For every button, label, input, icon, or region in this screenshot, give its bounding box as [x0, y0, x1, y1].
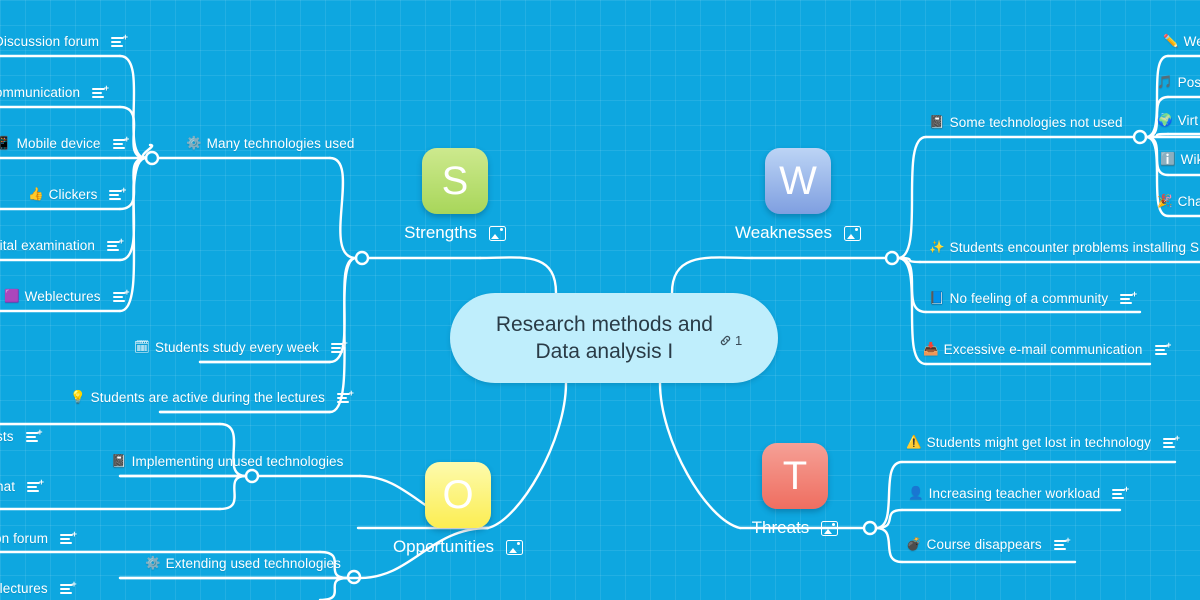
globe-icon: 🌍	[1157, 114, 1173, 127]
swot-caption-opportunities: Opportunities	[374, 537, 542, 557]
swot-letter-s: S	[422, 148, 488, 214]
subtopic-weblectures[interactable]: 🟪 Weblectures +	[4, 289, 128, 304]
image-icon[interactable]	[821, 521, 838, 536]
central-node-line1: Research methods and	[496, 313, 713, 336]
topic-extending-used-technologies[interactable]: ⚙️ Extending used technologies	[145, 556, 341, 571]
subtopic-clickers[interactable]: 👍 Clickers +	[28, 187, 124, 202]
party-popper-icon: 🎉	[1157, 195, 1173, 208]
topic-students-problems-installing-spss[interactable]: ✨ Students encounter problems installing…	[929, 240, 1200, 255]
information-icon: ℹ️	[1160, 153, 1176, 166]
subtopic-pos[interactable]: 🎵 Pos	[1157, 75, 1200, 90]
note-icon[interactable]: +	[331, 342, 346, 354]
central-node-link-badge[interactable]: 1	[719, 333, 742, 348]
topic-many-technologies-used[interactable]: ⚙️ Many technologies used	[186, 136, 354, 151]
swot-caption-weaknesses: Weaknesses	[722, 223, 874, 243]
swot-label-opportunities: Opportunities	[393, 537, 494, 557]
sparkles-icon: ✨	[929, 241, 945, 254]
blue-book-icon: 📘	[929, 292, 945, 305]
swot-letter-o: O	[425, 462, 491, 528]
note-icon[interactable]: +	[1054, 539, 1069, 551]
note-icon[interactable]: +	[1120, 293, 1135, 305]
subtopic-wik[interactable]: ℹ️ Wik	[1160, 152, 1200, 167]
note-icon[interactable]: +	[337, 392, 352, 404]
swot-letter-t: T	[762, 443, 828, 509]
swot-node-opportunities[interactable]: O Opportunities	[374, 462, 542, 557]
note-icon[interactable]: +	[27, 481, 42, 493]
inbox-tray-icon: 📥	[923, 343, 939, 356]
topic-increasing-teacher-workload[interactable]: 👤 Increasing teacher workload +	[908, 486, 1127, 501]
chain-link-icon	[719, 334, 732, 347]
subtopic-hat[interactable]: hat +	[0, 479, 42, 494]
subtopic-mobile-device[interactable]: 📱 Mobile device +	[0, 136, 128, 151]
pencil-icon: ✏️	[1163, 35, 1179, 48]
subtopic-sts[interactable]: sts +	[0, 429, 41, 444]
gear-icon: ⚙️	[145, 557, 161, 570]
image-icon[interactable]	[506, 540, 523, 555]
warning-icon: ⚠️	[906, 436, 922, 449]
central-node-text: Research methods and Data analysis I	[486, 311, 717, 365]
image-icon[interactable]	[489, 226, 506, 241]
swot-label-strengths: Strengths	[404, 223, 477, 243]
gear-icon: ⚙️	[186, 137, 202, 150]
note-icon[interactable]: +	[111, 36, 126, 48]
topic-implementing-unused-technologies[interactable]: 📓 Implementing unused technologies	[111, 454, 344, 469]
swot-node-strengths[interactable]: S Strengths	[388, 148, 522, 243]
notebook-icon: 📓	[929, 116, 945, 129]
lightbulb-icon: 💡	[70, 391, 86, 404]
subtopic-discussion-forum[interactable]: Discussion forum +	[0, 34, 126, 49]
subtopic-on-forum[interactable]: on forum +	[0, 531, 75, 546]
calendar-icon: 🗓	[134, 341, 150, 354]
note-icon[interactable]: +	[1112, 488, 1127, 500]
swot-letter-w: W	[765, 148, 831, 214]
note-icon[interactable]: +	[1163, 437, 1178, 449]
notebook-icon: 📓	[111, 455, 127, 468]
subtopic-digital-examination[interactable]: gital examination +	[0, 238, 122, 253]
swot-caption-strengths: Strengths	[388, 223, 522, 243]
swot-node-weaknesses[interactable]: W Weaknesses	[722, 148, 874, 243]
central-node[interactable]: Research methods and Data analysis I 1	[450, 293, 778, 383]
note-icon[interactable]: +	[1155, 344, 1170, 356]
person-icon: 👤	[908, 487, 924, 500]
thumbs-up-icon: 👍	[28, 188, 44, 201]
topic-students-study-every-week[interactable]: 🗓 Students study every week +	[134, 340, 346, 355]
central-node-link-count: 1	[735, 333, 742, 348]
mobile-icon: 📱	[0, 137, 12, 150]
topic-students-active-during-lectures[interactable]: 💡 Students are active during the lecture…	[70, 390, 352, 405]
note-icon[interactable]: +	[60, 583, 75, 595]
swot-label-weaknesses: Weaknesses	[735, 223, 832, 243]
subtopic-cha[interactable]: 🎉 Cha	[1157, 194, 1200, 209]
swot-label-threats: Threats	[752, 518, 810, 538]
swot-caption-threats: Threats	[730, 518, 860, 538]
image-icon[interactable]	[844, 226, 861, 241]
topic-no-feeling-of-community[interactable]: 📘 No feeling of a community +	[929, 291, 1135, 306]
note-icon[interactable]: +	[107, 240, 122, 252]
subtopic-web[interactable]: ✏️ Web	[1163, 34, 1200, 49]
central-node-line2: Data analysis I	[536, 340, 674, 363]
music-note-icon: 🎵	[1157, 76, 1173, 89]
note-icon[interactable]: +	[92, 87, 107, 99]
subtopic-communication[interactable]: communication +	[0, 85, 107, 100]
topic-course-disappears[interactable]: 💣 Course disappears +	[906, 537, 1069, 552]
note-icon[interactable]: +	[113, 291, 128, 303]
note-icon[interactable]: +	[113, 138, 128, 150]
topic-some-technologies-not-used[interactable]: 📓 Some technologies not used	[929, 115, 1123, 130]
note-icon[interactable]: +	[60, 533, 75, 545]
note-icon[interactable]: +	[26, 431, 41, 443]
topic-excessive-email-communication[interactable]: 📥 Excessive e-mail communication +	[923, 342, 1170, 357]
purple-square-icon: 🟪	[4, 290, 20, 303]
topic-students-might-get-lost[interactable]: ⚠️ Students might get lost in technology…	[906, 435, 1178, 450]
subtopic-blectures[interactable]: blectures +	[0, 581, 75, 596]
bomb-icon: 💣	[906, 538, 922, 551]
swot-node-threats[interactable]: T Threats	[730, 443, 860, 538]
subtopic-virt[interactable]: 🌍 Virt	[1157, 113, 1198, 128]
note-icon[interactable]: +	[109, 189, 124, 201]
